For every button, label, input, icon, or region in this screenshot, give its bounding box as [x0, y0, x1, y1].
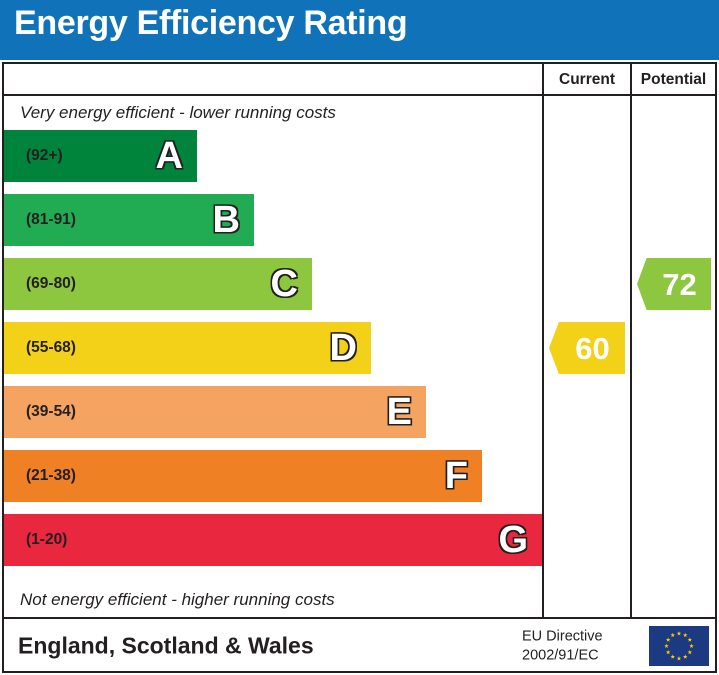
band-letter-b: B [213, 201, 240, 239]
band-letter-e: E [387, 393, 412, 431]
band-letter-f: F [445, 457, 468, 495]
band-row-e: (39-54) E [4, 386, 426, 438]
band-range-e: (39-54) [26, 403, 76, 421]
current-rating-marker: 60 [549, 322, 625, 374]
page-title: Energy Efficiency Rating [14, 4, 407, 43]
band-row-d: (55-68) D [4, 322, 371, 374]
column-header-current: Current [542, 64, 630, 96]
energy-efficiency-rating-chart: Energy Efficiency Rating Current Potenti… [0, 0, 719, 675]
band-row-f: (21-38) F [4, 450, 482, 502]
band-letter-a: A [156, 137, 183, 175]
current-rating-value: 60 [564, 333, 609, 364]
band-range-f: (21-38) [26, 467, 76, 485]
footer-directive: EU Directive 2002/91/EC [522, 627, 603, 664]
footer-directive-line2: 2002/91/EC [522, 646, 603, 665]
band-letter-d: D [330, 329, 357, 367]
chart-table-frame: Current Potential Very energy efficient … [2, 62, 717, 673]
band-row-g: (1-20) G [4, 514, 542, 566]
band-range-a: (92+) [26, 147, 63, 165]
band-range-d: (55-68) [26, 339, 76, 357]
band-list: (92+) A (81-91) B (69-80) C (55-68) D (3… [4, 130, 542, 582]
band-letter-g: G [498, 521, 528, 559]
band-range-b: (81-91) [26, 211, 76, 229]
potential-rating-marker: 72 [637, 258, 711, 310]
band-range-g: (1-20) [26, 531, 67, 549]
band-row-a: (92+) A [4, 130, 197, 182]
chart-header-bar: Energy Efficiency Rating [0, 0, 719, 60]
caption-not-efficient: Not energy efficient - higher running co… [4, 583, 540, 617]
column-divider-right [630, 96, 632, 617]
footer-region-label: England, Scotland & Wales [18, 633, 314, 660]
column-header-row: Current Potential [4, 64, 715, 96]
column-header-potential: Potential [630, 64, 715, 96]
eu-flag-icon [649, 626, 709, 666]
caption-very-efficient: Very energy efficient - lower running co… [4, 96, 540, 130]
column-divider-left [542, 96, 544, 617]
chart-footer: England, Scotland & Wales EU Directive 2… [4, 619, 715, 673]
band-row-b: (81-91) B [4, 194, 254, 246]
band-row-c: (69-80) C [4, 258, 312, 310]
band-range-c: (69-80) [26, 275, 76, 293]
band-letter-c: C [271, 265, 298, 303]
footer-directive-line1: EU Directive [522, 627, 603, 646]
potential-rating-value: 72 [651, 269, 696, 300]
